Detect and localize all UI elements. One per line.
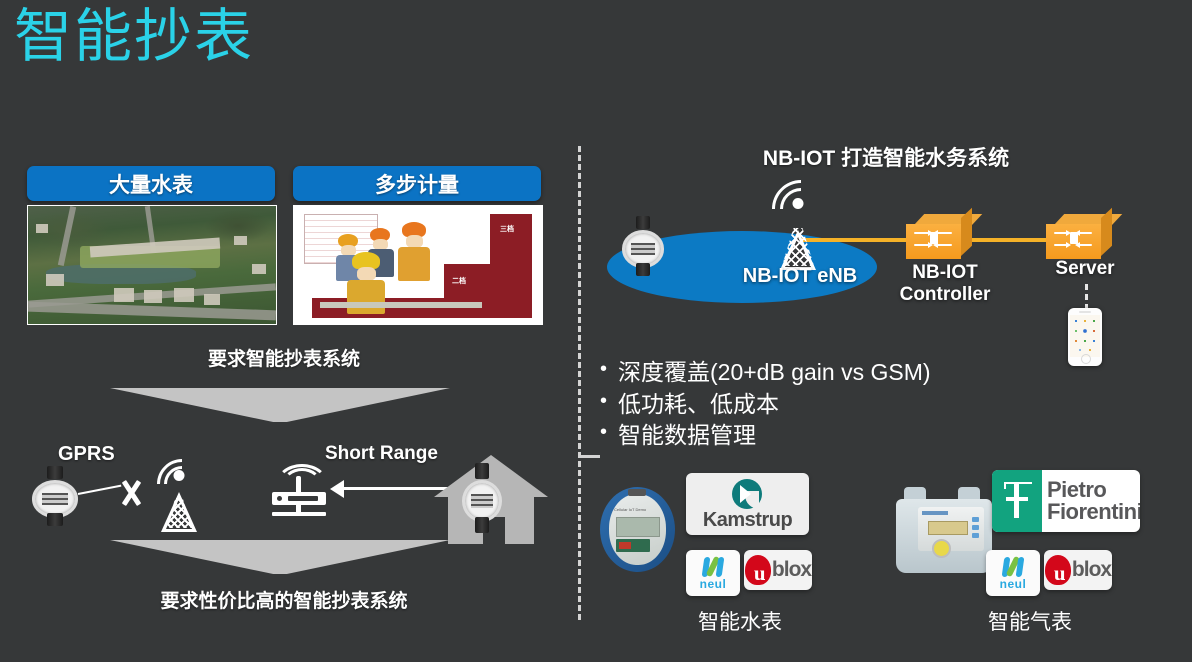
aerial-village-photo bbox=[27, 205, 277, 325]
smart-gas-meter-photo bbox=[896, 487, 994, 575]
bullet-item: 低功耗、低成本 bbox=[600, 389, 1120, 421]
water-meter-icon-nb bbox=[622, 218, 664, 274]
left-arrow-icon bbox=[330, 480, 344, 498]
server-label: Server bbox=[1020, 258, 1150, 280]
card-header-mass-meters: 大量水表 bbox=[27, 166, 275, 201]
manual-meter-reading-illustration: 三档 二档 一档 bbox=[293, 205, 543, 325]
water-meter-icon-house bbox=[462, 466, 502, 530]
product-label-water-meter: 智能水表 bbox=[600, 606, 880, 636]
network-router-icon-controller bbox=[906, 214, 972, 262]
pietro-fiorentini-mark-icon bbox=[992, 470, 1042, 532]
nb-iot-tower-icon bbox=[763, 186, 833, 270]
gprs-label: GPRS bbox=[58, 443, 115, 466]
kamstrup-logo: Kamstrup bbox=[686, 473, 809, 535]
pietro-fiorentini-wordmark-line2: Fiorentini bbox=[1047, 501, 1140, 523]
nb-iot-controller-label-line1: NB-IOT bbox=[870, 262, 1020, 284]
kamstrup-mark-icon bbox=[732, 479, 762, 509]
gprs-link-line bbox=[78, 485, 122, 495]
short-range-label: Short Range bbox=[325, 443, 438, 465]
ublox-wordmark: blox bbox=[1072, 558, 1111, 582]
ublox-letter: u bbox=[754, 561, 766, 586]
cell-tower-icon bbox=[150, 460, 208, 532]
neul-mark-icon bbox=[1001, 556, 1025, 578]
nb-iot-controller-label: NB-IOT Controller bbox=[870, 262, 1020, 306]
step-label-high: 三档 bbox=[500, 224, 514, 234]
step-label-mid: 二档 bbox=[452, 276, 466, 286]
x-mark-icon bbox=[118, 480, 144, 506]
neul-logo: neul bbox=[686, 550, 740, 596]
network-router-icon-server bbox=[1046, 214, 1112, 262]
link-controller-to-server bbox=[972, 238, 1052, 242]
ublox-mark-icon: u bbox=[745, 555, 771, 585]
cellular-iot-water-meter-photo: Cellular IoT Demo bbox=[600, 487, 675, 572]
bullet-item: 智能数据管理 bbox=[600, 420, 1120, 452]
neul-logo-gas: neul bbox=[986, 550, 1040, 596]
nb-iot-section-title: NB-IOT 打造智能水务系统 bbox=[596, 142, 1176, 172]
ublox-logo: u blox bbox=[744, 550, 812, 590]
neul-wordmark: neul bbox=[700, 578, 727, 590]
panel-divider bbox=[578, 146, 581, 620]
product-label-gas-meter: 智能气表 bbox=[890, 606, 1170, 636]
pietro-fiorentini-wordmark-line1: Pietro bbox=[1047, 479, 1140, 501]
page-title: 智能抄表 bbox=[14, 8, 254, 66]
chevron-down-icon-top bbox=[110, 388, 450, 422]
panel-divider-tick bbox=[578, 455, 600, 458]
wireless-router-icon bbox=[268, 466, 330, 524]
ublox-mark-icon: u bbox=[1045, 555, 1071, 585]
card-header-multistep: 多步计量 bbox=[293, 166, 541, 201]
bullet-item: 深度覆盖(20+dB gain vs GSM) bbox=[600, 357, 1120, 389]
neul-mark-icon bbox=[701, 556, 725, 578]
feature-bullet-list: 深度覆盖(20+dB gain vs GSM) 低功耗、低成本 智能数据管理 bbox=[600, 357, 1120, 452]
nb-iot-controller-label-line2: Controller bbox=[870, 284, 1020, 306]
ublox-wordmark: blox bbox=[772, 558, 811, 582]
caption-need-smart-system: 要求智能抄表系统 bbox=[27, 344, 541, 371]
server-phone-dashed-link bbox=[1085, 284, 1088, 310]
ublox-letter: u bbox=[1054, 561, 1066, 586]
chevron-down-icon-bottom bbox=[110, 540, 450, 574]
kamstrup-wordmark: Kamstrup bbox=[703, 510, 792, 530]
ublox-logo-gas: u blox bbox=[1044, 550, 1112, 590]
neul-wordmark: neul bbox=[1000, 578, 1027, 590]
caption-need-cost-effective-system: 要求性价比高的智能抄表系统 bbox=[27, 586, 541, 613]
pietro-fiorentini-logo: Pietro Fiorentini bbox=[992, 470, 1140, 532]
water-meter-icon bbox=[32, 468, 78, 524]
